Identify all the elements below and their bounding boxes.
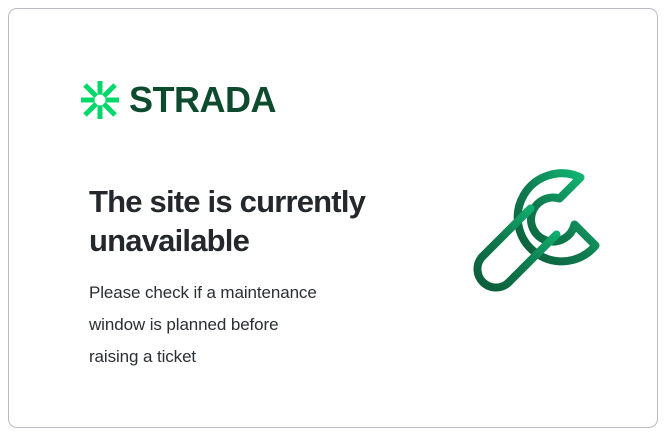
status-card: STRADA The site is currently unavailable… — [8, 8, 658, 428]
maintenance-page: STRADA The site is currently unavailable… — [0, 0, 666, 436]
brand-lockup: STRADA — [81, 75, 276, 125]
description-line: Please check if a maintenance — [89, 277, 409, 309]
wrench-icon — [464, 161, 624, 321]
page-title: The site is currently unavailable — [89, 182, 419, 261]
page-description: Please check if a maintenance window is … — [89, 277, 409, 372]
description-line: raising a ticket — [89, 341, 409, 373]
brand-wordmark: STRADA — [129, 82, 276, 118]
strada-asterisk-icon — [81, 81, 119, 119]
description-line: window is planned before — [89, 309, 409, 341]
